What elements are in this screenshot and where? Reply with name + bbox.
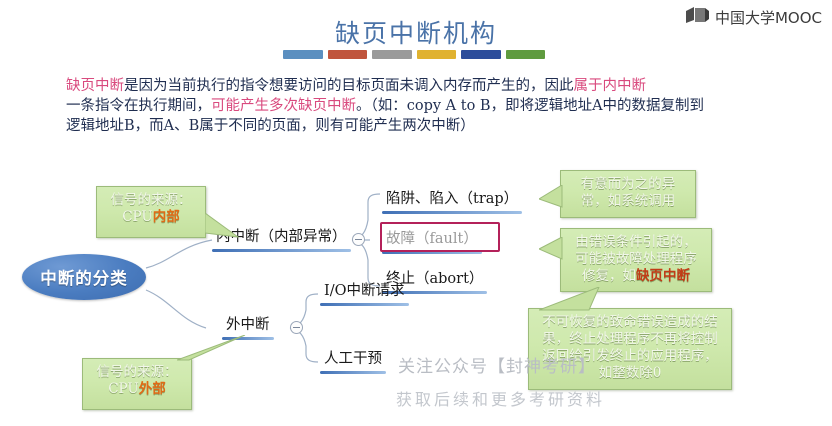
- callout-abort: 不可恢复的致命错误造成的结果，终止处理程序不再将控制返回给引发终止的应用程序，如…: [528, 308, 732, 390]
- intro-line2-body-b: 。（如：copy A to B，即将逻辑地址A中的数据复制到: [356, 98, 704, 114]
- mindmap-root-node[interactable]: 中断的分类: [22, 254, 146, 300]
- mindmap-node-manual-intervention-label: 人工干预: [320, 346, 386, 371]
- callout-tail-icon: [539, 185, 563, 209]
- intro-line1-highlight-a: 缺页中断: [66, 78, 124, 94]
- callout-tail-icon: [539, 237, 563, 261]
- intro-line1-body: 是因为当前执行的指令想要访问的目标页面未调入内存而产生的，因此: [124, 78, 574, 94]
- mindmap-node-io-request[interactable]: I/O中断请求: [320, 278, 409, 306]
- mindmap-node-external-label: 外中断: [222, 312, 274, 337]
- rule-bar-6: [506, 50, 546, 59]
- collapse-icon-internal[interactable]: [352, 233, 365, 246]
- rule-bar-1: [283, 50, 323, 59]
- book-arrow-icon: [685, 6, 711, 29]
- mindmap-node-io-request-label: I/O中断请求: [320, 278, 409, 303]
- rule-bar-2: [328, 50, 368, 59]
- mindmap-node-manual-intervention[interactable]: 人工干预: [320, 346, 386, 374]
- mindmap-diagram: 中断的分类 内中断（内部异常） 陷阱、陷入（trap） 故障（fault） 终止…: [0, 150, 832, 426]
- callout-source-external: 信号的来源： CPU外部: [82, 358, 192, 410]
- rule-bar-4: [417, 50, 457, 59]
- callout-tail-icon: [539, 287, 609, 311]
- callout-abort-text: 不可恢复的致命错误造成的结果，终止处理程序不再将控制返回给引发终止的应用程序，如…: [542, 314, 718, 381]
- callout-cpu-text: CPU: [122, 209, 153, 225]
- mooc-logo: 中国大学MOOC: [685, 6, 822, 29]
- node-underline: [212, 249, 351, 252]
- intro-line-3: 逻辑地址B，而A、B属于不同的页面，则有可能产生两次中断）: [66, 116, 786, 136]
- mindmap-root-label: 中断的分类: [40, 265, 128, 289]
- callout-source-external-line1: 信号的来源：: [91, 364, 183, 381]
- intro-line-1: 缺页中断是因为当前执行的指令想要访问的目标页面未调入内存而产生的，因此属于内中断: [66, 76, 786, 96]
- rule-bar-5: [461, 50, 501, 59]
- callout-fault-accent: 缺页中断: [636, 268, 690, 284]
- callout-internal-accent: 内部: [153, 209, 180, 225]
- intro-line2-body-a: 一条指令在执行期间，: [66, 98, 211, 114]
- callout-source-internal-line1: 信号的来源：: [105, 192, 197, 209]
- mooc-brand-text: 中国大学MOOC: [715, 7, 822, 28]
- intro-line-2: 一条指令在执行期间，可能产生多次缺页中断。（如：copy A to B，即将逻辑…: [66, 96, 786, 116]
- intro-line2-highlight: 可能产生多次缺页中断: [211, 98, 356, 114]
- slide-header: 缺页中断机构 中国大学MOOC: [0, 0, 832, 68]
- callout-external-accent: 外部: [139, 381, 166, 397]
- mindmap-node-trap[interactable]: 陷阱、陷入（trap）: [382, 186, 522, 214]
- node-underline: [382, 211, 522, 214]
- callout-tail-icon: [177, 335, 247, 361]
- title-rule-bars: [283, 50, 545, 59]
- collapse-icon-external[interactable]: [290, 321, 303, 334]
- node-underline: [320, 303, 409, 306]
- mindmap-node-trap-label: 陷阱、陷入（trap）: [382, 186, 522, 211]
- callout-tail-icon: [205, 213, 239, 239]
- intro-paragraph: 缺页中断是因为当前执行的指令想要访问的目标页面未调入内存而产生的，因此属于内中断…: [66, 76, 786, 136]
- callout-cpu-text: CPU: [108, 381, 139, 397]
- callout-source-internal-line2: CPU内部: [105, 209, 197, 226]
- callout-trap: 有意而为之的异常，如系统调用: [560, 170, 696, 218]
- intro-line1-highlight-b: 属于内中断: [574, 78, 647, 94]
- fault-highlight-box: [380, 222, 500, 252]
- callout-source-internal: 信号的来源： CPU内部: [96, 186, 206, 238]
- callout-fault: 由错误条件引起的，可能被故障处理程序修复，如缺页中断: [560, 228, 712, 292]
- rule-bar-3: [372, 50, 412, 59]
- callout-trap-text: 有意而为之的异常，如系统调用: [581, 176, 676, 209]
- callout-source-external-line2: CPU外部: [91, 381, 183, 398]
- node-underline: [320, 371, 386, 374]
